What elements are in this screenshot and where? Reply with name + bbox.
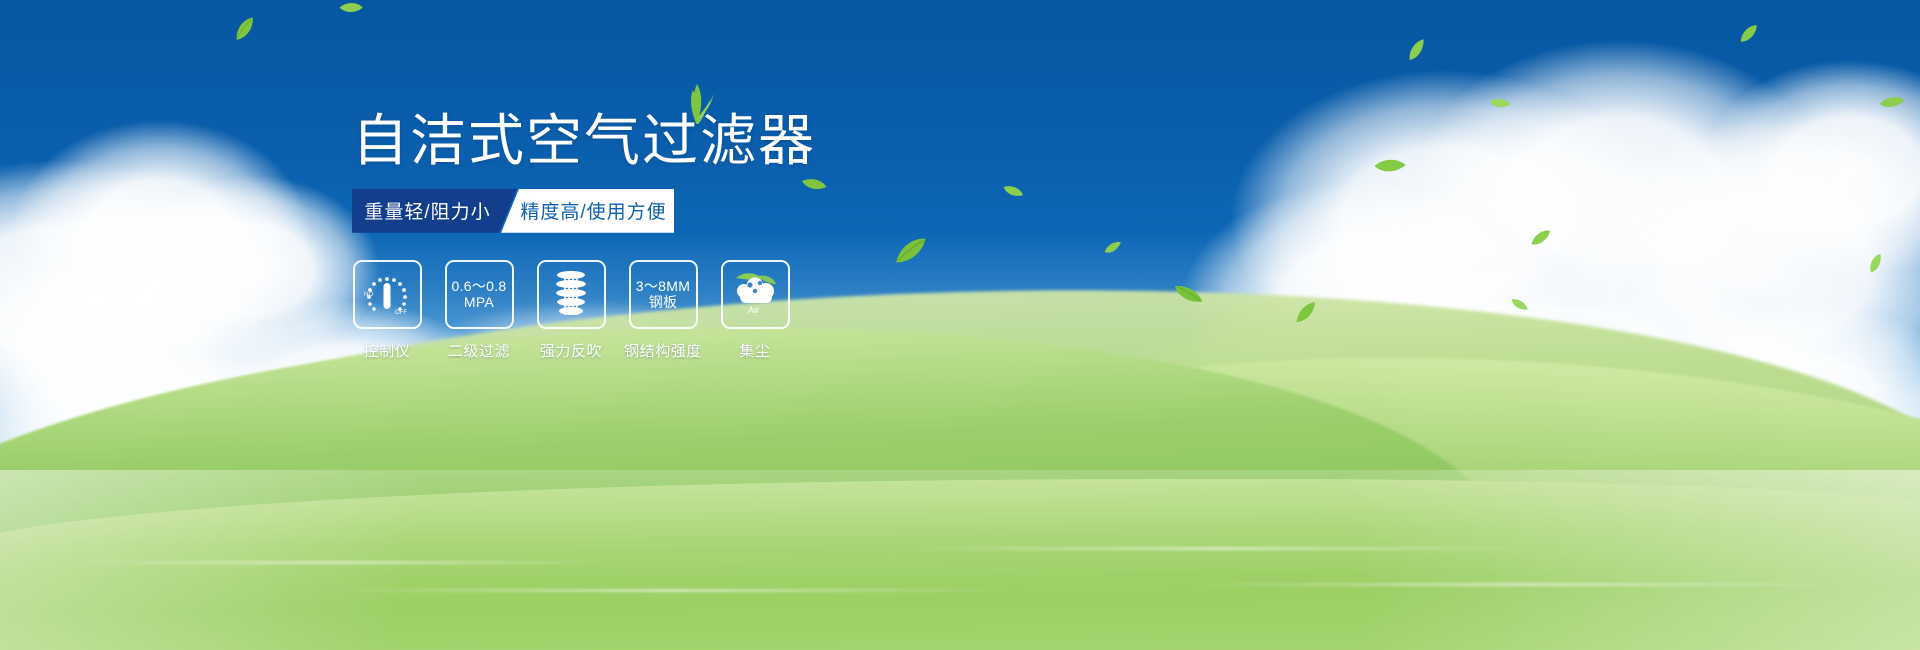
feature-box-line2: MPA bbox=[464, 294, 494, 311]
leaf-icon bbox=[1510, 295, 1529, 315]
leaf-icon bbox=[1736, 24, 1761, 45]
cloud-shape bbox=[10, 120, 310, 350]
feature-icon-box: NO OFF bbox=[353, 260, 422, 329]
feature-box-line1: 3～8MM bbox=[636, 278, 690, 295]
feature-label: 强力反吹 bbox=[540, 340, 602, 361]
feature-box-line2: 钢板 bbox=[649, 294, 678, 311]
feature-icon-box: 0.6～0.8 MPA bbox=[445, 260, 514, 329]
feature-icon-box bbox=[537, 260, 606, 329]
feature-label: 控制仪 bbox=[364, 340, 411, 361]
feature-label: 二级过滤 bbox=[448, 340, 510, 361]
leaf-icon bbox=[1529, 229, 1554, 247]
tag-lightweight-lowresistance[interactable]: 重量轻/阻力小 bbox=[352, 189, 517, 233]
page-title: 自洁式空气过滤器 bbox=[352, 110, 912, 173]
feature-label: 集尘 bbox=[739, 340, 770, 361]
leaf-icon bbox=[1404, 38, 1430, 63]
feature-label: 钢结构强度 bbox=[624, 340, 702, 361]
leaf-icon bbox=[1373, 154, 1406, 177]
feature-item-steel-strength[interactable]: 3～8MM 钢板 钢结构强度 bbox=[628, 260, 698, 361]
banner-content: 自洁式空气过滤器 重量轻/阻力小 精度高/使用方便 bbox=[352, 110, 912, 361]
feature-list: NO OFF 控制仪 0.6～0.8 MPA 二级过滤 bbox=[352, 260, 912, 361]
feature-icon-box: 3～8MM 钢板 bbox=[629, 260, 698, 329]
tag-group: 重量轻/阻力小 精度高/使用方便 bbox=[352, 189, 674, 233]
gauge-on-label: NO bbox=[364, 292, 373, 298]
title-leaf-icon bbox=[682, 84, 714, 125]
feature-item-dust-collection[interactable]: Air 集尘 bbox=[720, 260, 790, 361]
leaf-icon bbox=[1103, 241, 1123, 255]
tag-highprecision-easyuse[interactable]: 精度高/使用方便 bbox=[501, 189, 674, 233]
feature-item-controller[interactable]: NO OFF 控制仪 bbox=[352, 260, 422, 361]
feature-item-two-stage-filter[interactable]: 0.6～0.8 MPA 二级过滤 bbox=[444, 260, 514, 361]
filter-stack-icon bbox=[548, 269, 594, 319]
gauge-off-label: OFF bbox=[395, 310, 407, 316]
leaf-icon bbox=[1865, 252, 1887, 274]
promo-banner: 自洁式空气过滤器 重量轻/阻力小 精度高/使用方便 bbox=[0, 0, 1920, 650]
leaf-icon bbox=[230, 16, 259, 42]
cloud-air-icon: Air bbox=[728, 272, 782, 316]
feature-item-strong-backblow[interactable]: 强力反吹 bbox=[536, 260, 606, 361]
feature-box-line1: 0.6～0.8 bbox=[451, 278, 506, 295]
air-label: Air bbox=[748, 305, 759, 315]
leaf-icon bbox=[339, 0, 364, 17]
leaf-icon bbox=[1002, 181, 1024, 202]
cloud-shape bbox=[120, 175, 380, 365]
leaf-icon bbox=[1879, 94, 1905, 111]
feature-icon-box: Air bbox=[721, 260, 790, 329]
leaf-icon bbox=[1489, 94, 1512, 112]
cloud-shape bbox=[1700, 60, 1920, 280]
cloud-shape bbox=[1410, 40, 1830, 340]
gauge-icon: NO OFF bbox=[362, 270, 412, 318]
title-wrap: 自洁式空气过滤器 bbox=[352, 110, 912, 173]
